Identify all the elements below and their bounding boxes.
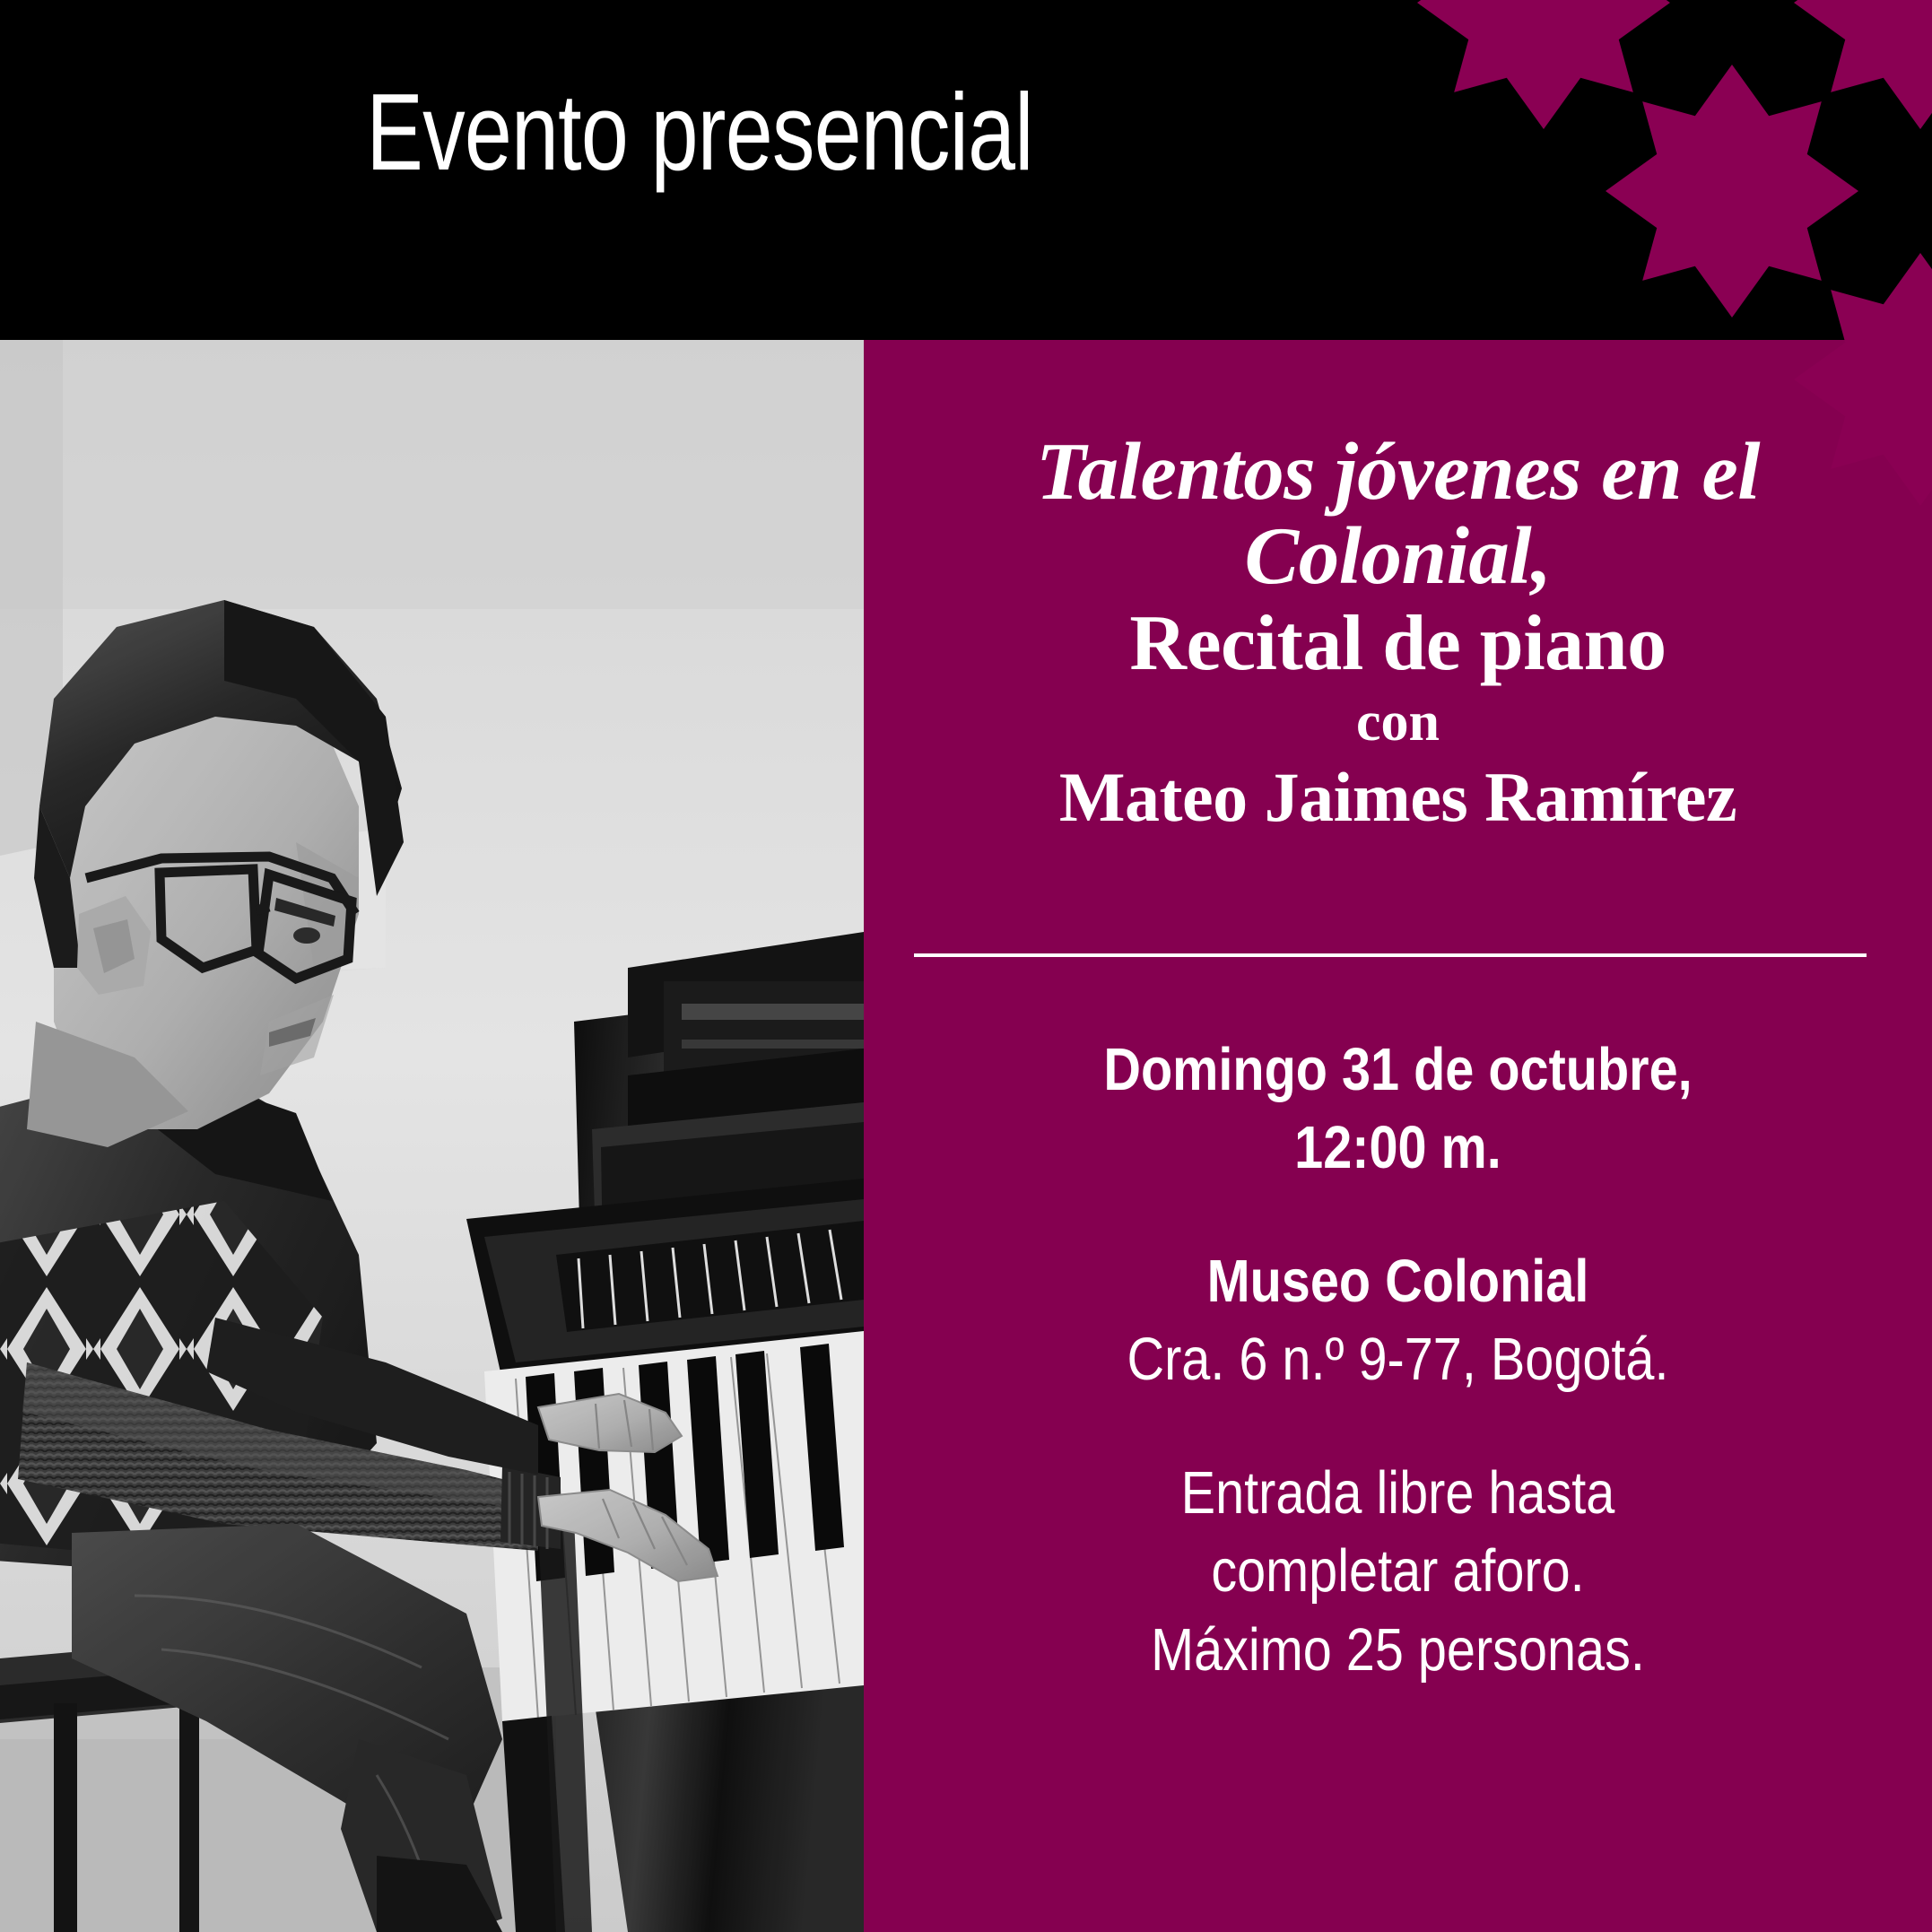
event-poster: Talentos jóvenes en el Colonial, Recital… [0, 0, 1932, 1932]
event-capacity: Máximo 25 personas. [938, 1611, 1857, 1689]
event-admission-group: Entrada libre hasta completar aforo. Máx… [864, 1454, 1932, 1688]
performer-name: Mateo Jaimes Ramírez [864, 757, 1932, 838]
event-time: 12:00 m. [938, 1109, 1857, 1187]
event-title-block: Talentos jóvenes en el Colonial, Recital… [864, 430, 1932, 838]
event-admission-line-2: completar aforo. [938, 1532, 1857, 1610]
event-venue-group: Museo Colonial Cra. 6 n.º 9-77, Bogotá. [864, 1242, 1932, 1398]
performer-photo-image [0, 340, 864, 1932]
event-info-panel: Talentos jóvenes en el Colonial, Recital… [864, 340, 1932, 1932]
section-divider [914, 953, 1867, 957]
page-title: Evento presencial [154, 77, 1246, 187]
event-date: Domingo 31 de octubre, [938, 1031, 1857, 1109]
performer-photo [0, 340, 864, 1932]
event-with-label: con [864, 690, 1932, 755]
header-band: Evento presencial [0, 0, 1932, 340]
event-admission-line-1: Entrada libre hasta [938, 1454, 1857, 1532]
event-address: Cra. 6 n.º 9-77, Bogotá. [938, 1320, 1857, 1398]
event-datetime-group: Domingo 31 de octubre, 12:00 m. [864, 1031, 1932, 1187]
event-venue: Museo Colonial [938, 1242, 1857, 1320]
event-title-line-1: Talentos jóvenes en el [864, 430, 1932, 514]
event-subtitle: Recital de piano [864, 601, 1932, 688]
event-title-line-2: Colonial, [864, 514, 1932, 598]
event-details-block: Domingo 31 de octubre, 12:00 m. Museo Co… [864, 1031, 1932, 1689]
